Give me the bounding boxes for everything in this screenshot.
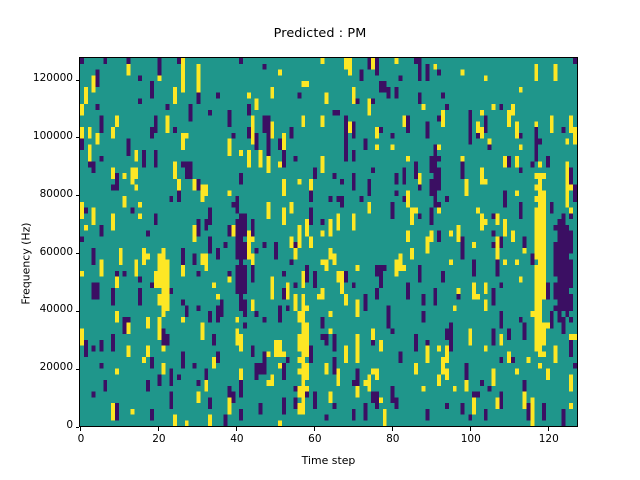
y-tick-label: 120000 [33,72,73,84]
x-tick-label: 80 [363,433,423,445]
x-tick-label: 40 [207,433,267,445]
x-tick-label: 0 [51,433,111,445]
x-tick-label: 20 [129,433,189,445]
y-tick-label: 20000 [40,361,73,373]
x-tick-line [470,427,471,431]
x-tick-line [236,427,237,431]
heatmap-image [80,58,577,426]
y-tick-label: 80000 [40,188,73,200]
y-tick-label: 100000 [33,130,73,142]
x-tick-line [314,427,315,431]
y-tick-label: 40000 [40,303,73,315]
y-axis-label: Frequency (Hz) [20,79,33,449]
y-tick-label: 60000 [40,246,73,258]
x-tick-label: 120 [519,433,579,445]
page-title: Predicted : PM [0,26,640,41]
x-axis-label: Time step [79,454,578,467]
x-tick-line [392,427,393,431]
x-axis: Time step 020406080100120 [79,427,578,480]
x-tick-line [158,427,159,431]
figure-canvas: Predicted : PM Frequency (Hz) 0200004000… [0,0,640,480]
x-tick-label: 60 [285,433,345,445]
y-axis: Frequency (Hz) 0200004000060000800001000… [0,57,79,427]
x-tick-label: 100 [441,433,501,445]
heatmap-plot-area[interactable] [79,57,578,427]
x-tick-line [548,427,549,431]
y-tick-label: 0 [66,419,73,431]
x-tick-line [80,427,81,431]
